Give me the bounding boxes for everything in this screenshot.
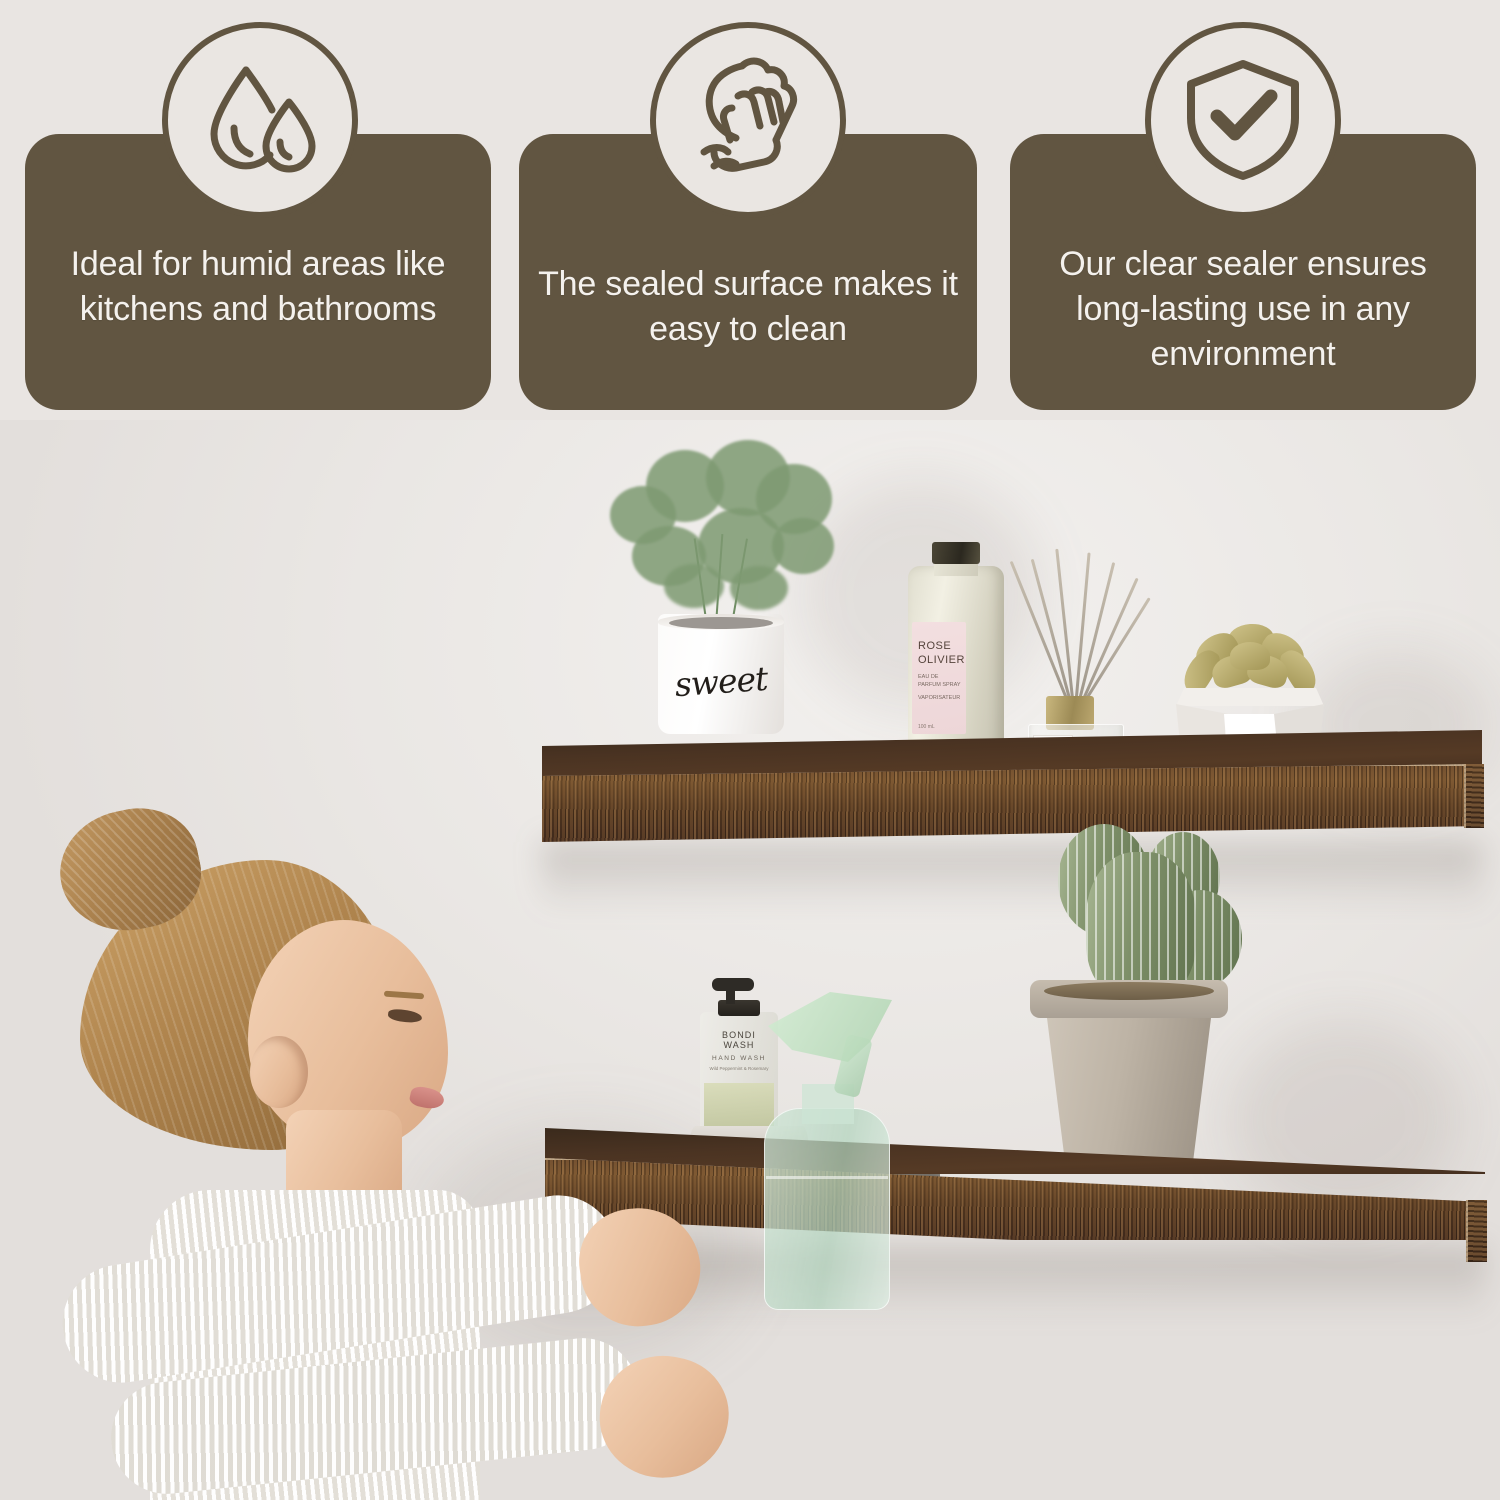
pot-script-text: sweet: [669, 658, 773, 704]
bottle-cap: [932, 542, 980, 564]
pot-inner-shadow: [669, 617, 773, 629]
feature-card-text: The sealed surface makes it easy to clea…: [533, 262, 964, 352]
ear: [250, 1036, 308, 1108]
child-figure: [0, 800, 840, 1500]
product-photo-scene: sweet ROSE OLIVIER EAU DE PARFUM SPRAY V…: [0, 420, 1500, 1500]
hand-wiping-cloth-icon-badge: [650, 22, 846, 218]
water-drops-icon: [194, 54, 326, 186]
label-line-2: OLIVIER: [918, 654, 962, 668]
bottle-label: ROSE OLIVIER EAU DE PARFUM SPRAY VAPORIS…: [912, 622, 966, 734]
label-line-3: EAU DE PARFUM SPRAY: [918, 673, 962, 690]
fern-foliage: [588, 438, 860, 628]
water-drops-icon-badge: [162, 22, 358, 218]
shelf-side-cap: [1466, 1200, 1487, 1262]
shield-check-icon: [1179, 54, 1307, 186]
label-line-4: VAPORISATEUR: [918, 694, 962, 702]
label-line-1: ROSE: [918, 640, 962, 654]
feature-card-text: Our clear sealer ensures long-lasting us…: [1024, 242, 1462, 378]
cactus-pot-gravel: [1044, 982, 1214, 1000]
shield-check-icon-badge: [1145, 22, 1341, 218]
feature-card-text: Ideal for humid areas like kitchens and …: [39, 242, 477, 332]
shelf-side-cap: [1464, 764, 1484, 828]
upper-floating-shelf: [542, 730, 1482, 792]
sweet-planter-pot: sweet: [658, 614, 784, 738]
feature-cards-row: Ideal for humid areas like kitchens and …: [0, 0, 1500, 420]
cactus-plant: [1038, 816, 1238, 996]
hand-wiping-cloth-icon: [680, 52, 816, 188]
